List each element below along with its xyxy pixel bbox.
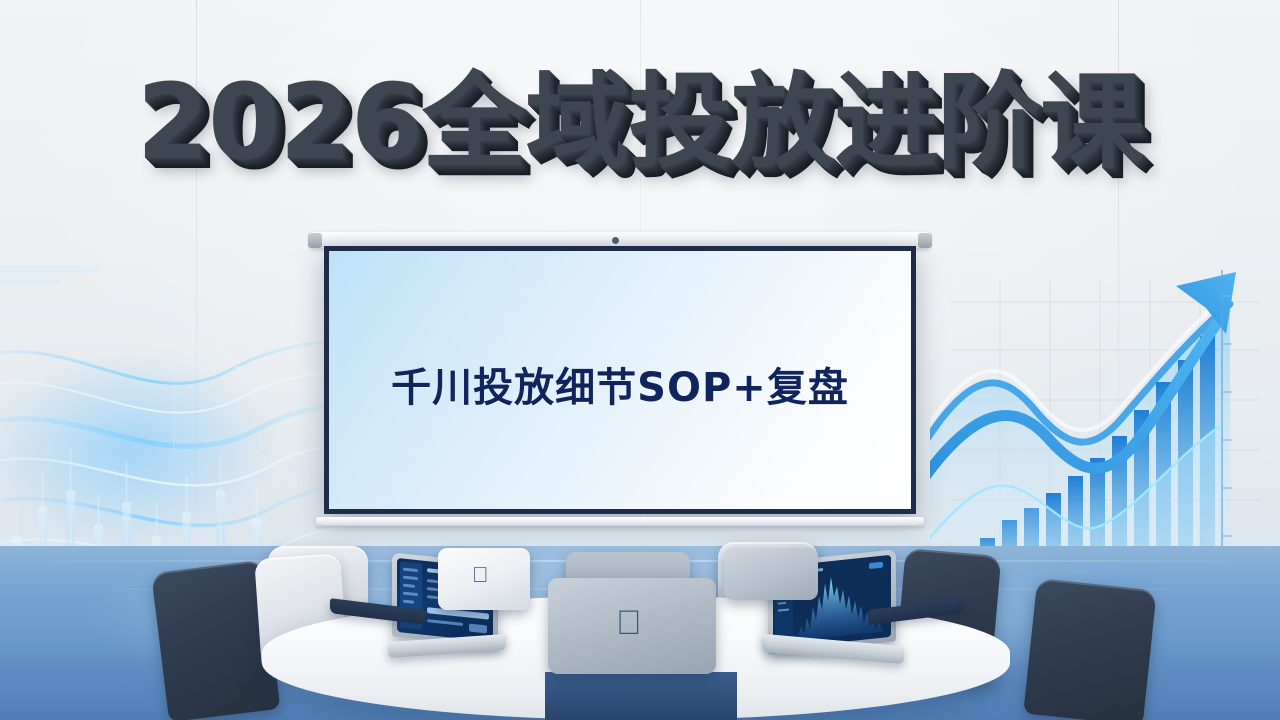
chair-far-right: [1023, 578, 1157, 720]
poster-canvas: 千川投放细节SOP+复盘 2026全域投放进阶课: [0, 0, 1280, 720]
screen-bottom-bar: [316, 517, 924, 526]
apple-logo: : [472, 564, 489, 586]
far-left-laptop: [330, 604, 426, 626]
table-leg: [545, 672, 737, 720]
page-title: 2026全域投放进阶课: [0, 70, 1280, 174]
far-right-laptop: [868, 604, 964, 626]
screen-frame: 千川投放细节SOP+复盘: [324, 246, 916, 514]
screen-roller-knob-icon: [612, 237, 619, 244]
roller-cap-left: [308, 233, 322, 248]
center-laptop: : [548, 552, 718, 674]
screen-title: 千川投放细节SOP+复盘: [329, 355, 911, 413]
projector-screen: 千川投放细节SOP+复盘: [310, 232, 930, 534]
screen-surface: 千川投放细节SOP+复盘: [329, 251, 911, 509]
back-left-laptop: : [438, 548, 532, 614]
apple-logo: : [616, 606, 642, 640]
roller-cap-right: [918, 233, 932, 248]
back-right-laptop: [724, 548, 820, 604]
